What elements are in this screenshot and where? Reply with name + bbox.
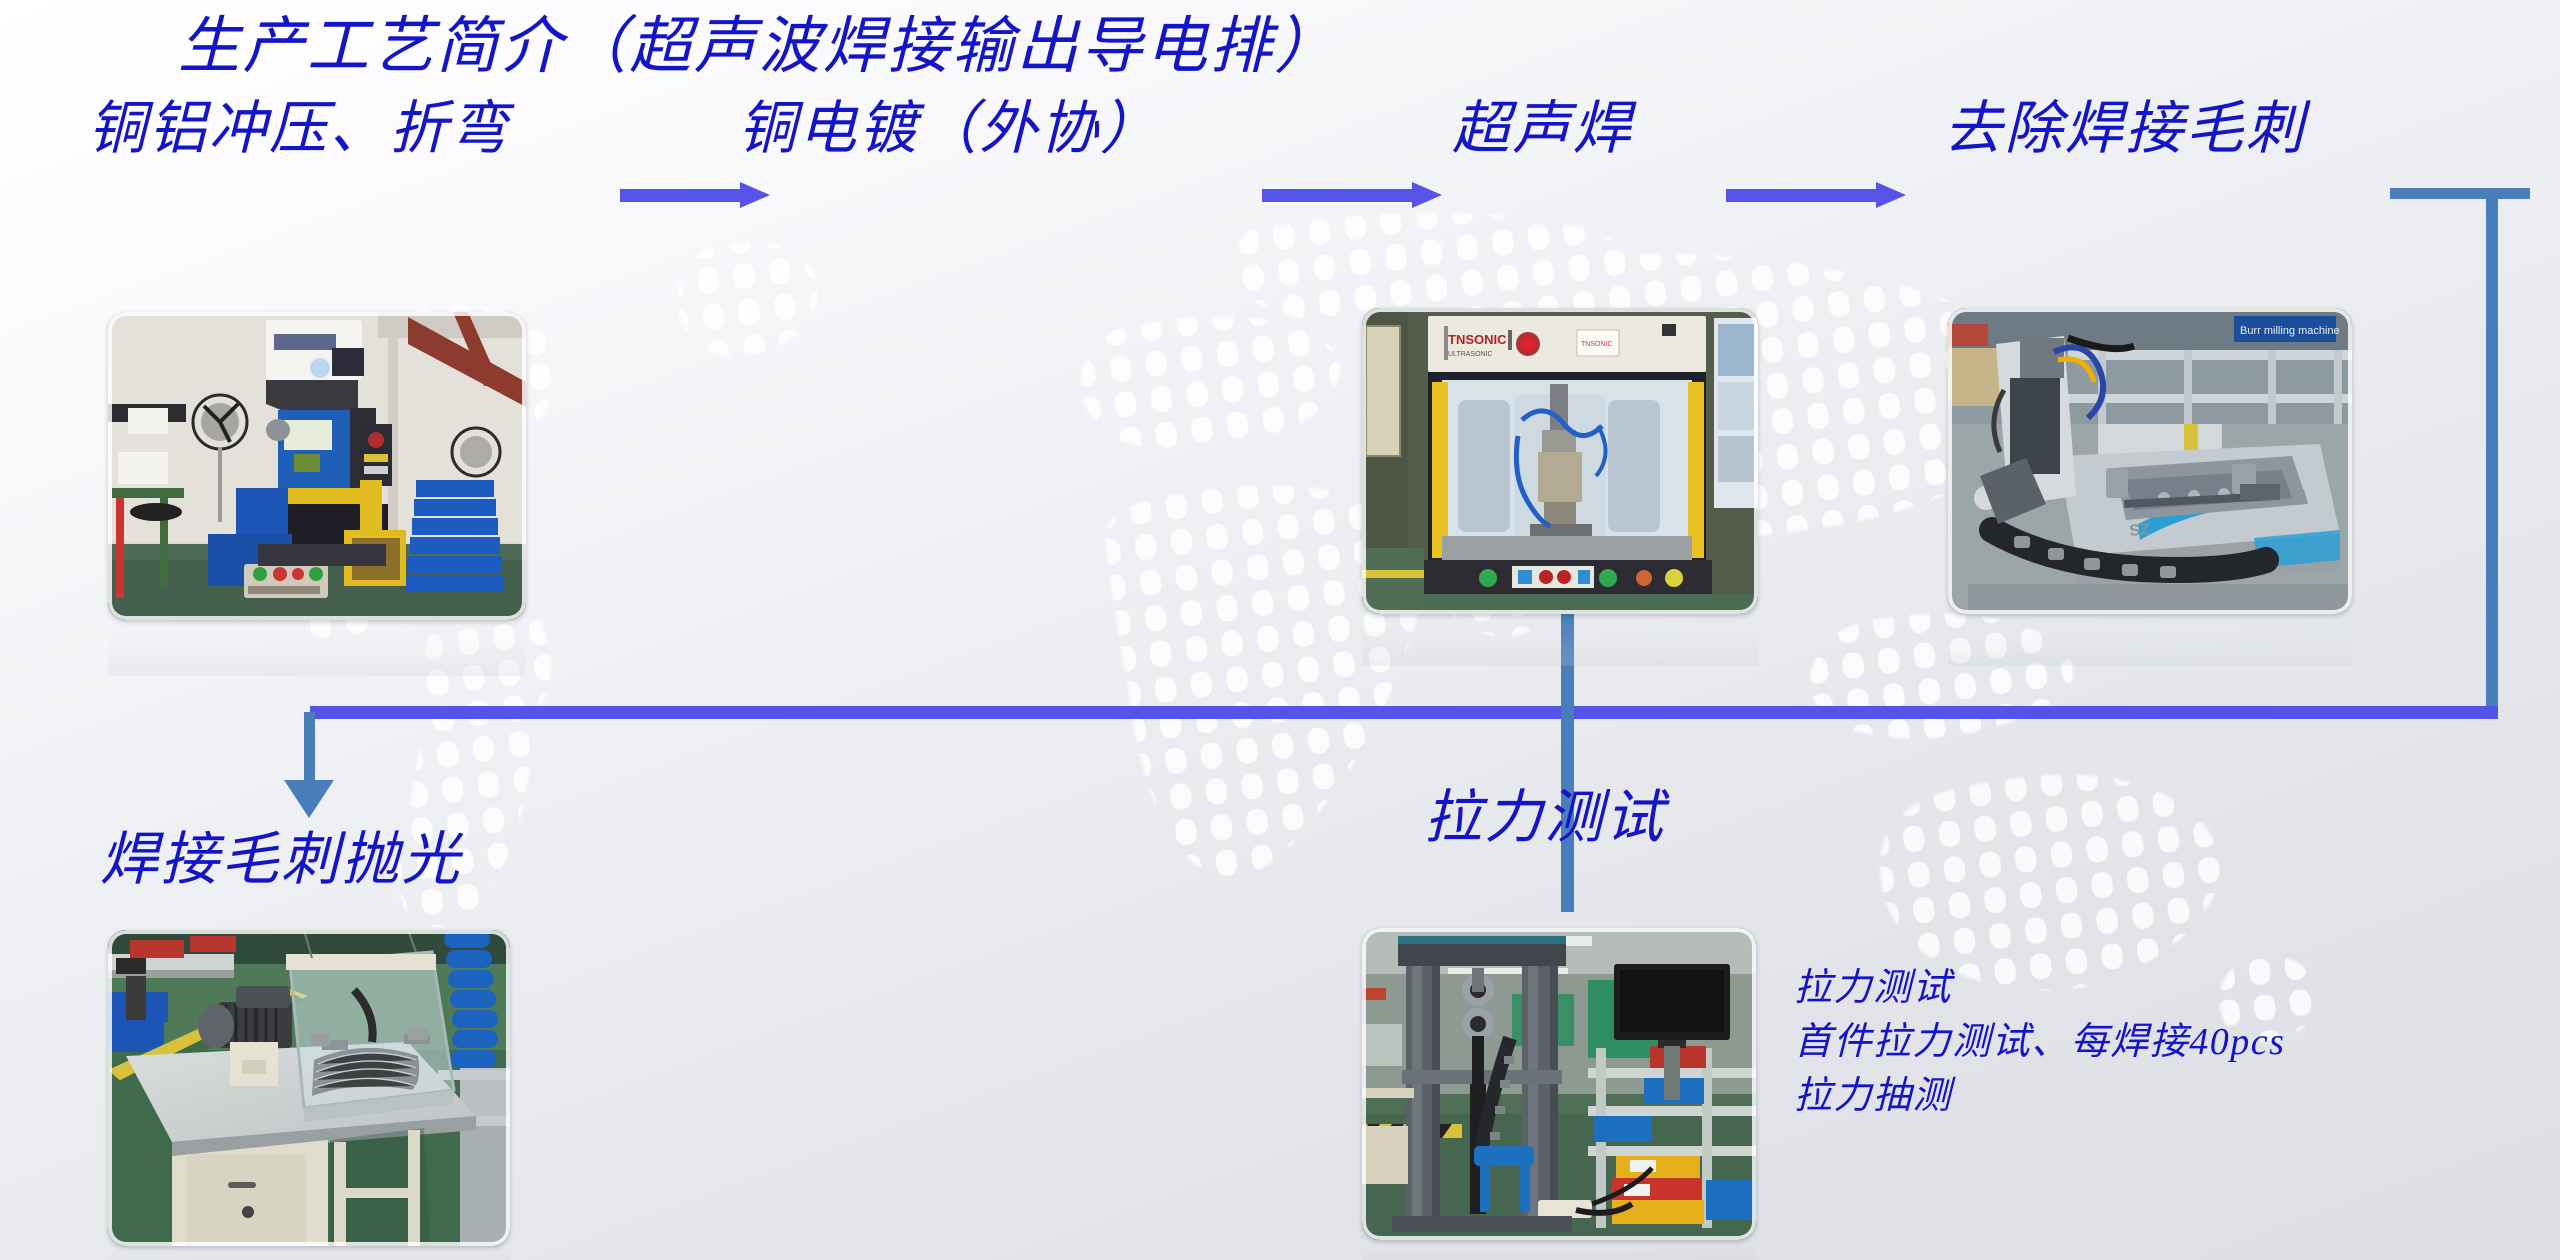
flow-arrow-right-icon: [1726, 182, 1906, 208]
photo-reflection: [1948, 614, 2352, 666]
photo-deburring-machine: Burr milling machine SZ: [1948, 308, 2352, 614]
svg-text:SZ: SZ: [2129, 521, 2151, 540]
process-step-stamping: 铜铝冲压、折弯: [88, 100, 510, 158]
process-step-ultrasonic: 超声焊: [1452, 100, 1633, 158]
photo-tensile-tester: [1362, 928, 1756, 1240]
arrow-shaft: [1262, 189, 1414, 202]
note-line-1: 拉力测试: [1794, 962, 2285, 1016]
process-step-tensile: 拉力测试: [1424, 770, 1665, 854]
arrow-head: [1412, 182, 1442, 208]
flow-arrow-right-icon: [620, 182, 770, 208]
connector-deburr-top: [2390, 188, 2530, 199]
slide-canvas: 生产工艺简介（超声波焊接输出导电排） 铜铝冲压、折弯 铜电镀（外协） 超声焊 去…: [0, 0, 2560, 1260]
photo-deburring-machine-scene: Burr milling machine SZ: [1948, 308, 2352, 614]
connector-tensile-vertical: [1561, 612, 1574, 912]
photo-reflection: [108, 1246, 510, 1260]
photo-reflection: [1362, 1240, 1756, 1260]
process-step-deburring: 去除焊接毛刺: [1944, 100, 2306, 158]
arrow-head: [1876, 182, 1906, 208]
flow-arrow-right-icon: [1262, 182, 1442, 208]
arrow-shaft: [1726, 189, 1878, 202]
svg-text:ULTRASONIC: ULTRASONIC: [1448, 351, 1493, 358]
connector-deburr-vertical: [2486, 188, 2498, 716]
connector-polish-vertical: [304, 712, 315, 784]
photo-polishing-bench: [108, 930, 510, 1246]
photo-reflection: [108, 620, 526, 676]
svg-text:TNSONIC: TNSONIC: [1448, 332, 1507, 347]
process-step-polishing: 焊接毛刺抛光: [100, 812, 462, 896]
page-title: 生产工艺简介（超声波焊接输出导电排）: [178, 12, 1339, 83]
connector-return-horizontal: [310, 706, 2498, 719]
note-line-3: 拉力抽测: [1794, 1070, 2285, 1124]
note-line-2: 首件拉力测试、每焊接40pcs: [1794, 1016, 2285, 1070]
tensile-test-notes: 拉力测试 首件拉力测试、每焊接40pcs 拉力抽测: [1794, 962, 2285, 1124]
photo-tensile-tester-scene: [1362, 928, 1756, 1240]
svg-text:Burr milling machine: Burr milling machine: [2240, 325, 2340, 337]
arrow-head: [740, 182, 770, 208]
photo-ultrasonic-welder: TNSONIC ULTRASONIC TNSONIC: [1362, 308, 1758, 614]
svg-text:TNSONIC: TNSONIC: [1581, 341, 1613, 348]
photo-stamping-press: [108, 312, 526, 620]
photo-stamping-press-scene: [108, 312, 526, 620]
connector-arrow-down-icon: [284, 780, 334, 818]
arrow-shaft: [620, 189, 742, 202]
photo-reflection: [1362, 614, 1758, 666]
photo-ultrasonic-welder-scene: TNSONIC ULTRASONIC TNSONIC: [1362, 308, 1758, 614]
process-step-plating: 铜电镀（外协）: [738, 100, 1160, 158]
photo-polishing-bench-scene: [108, 930, 510, 1246]
